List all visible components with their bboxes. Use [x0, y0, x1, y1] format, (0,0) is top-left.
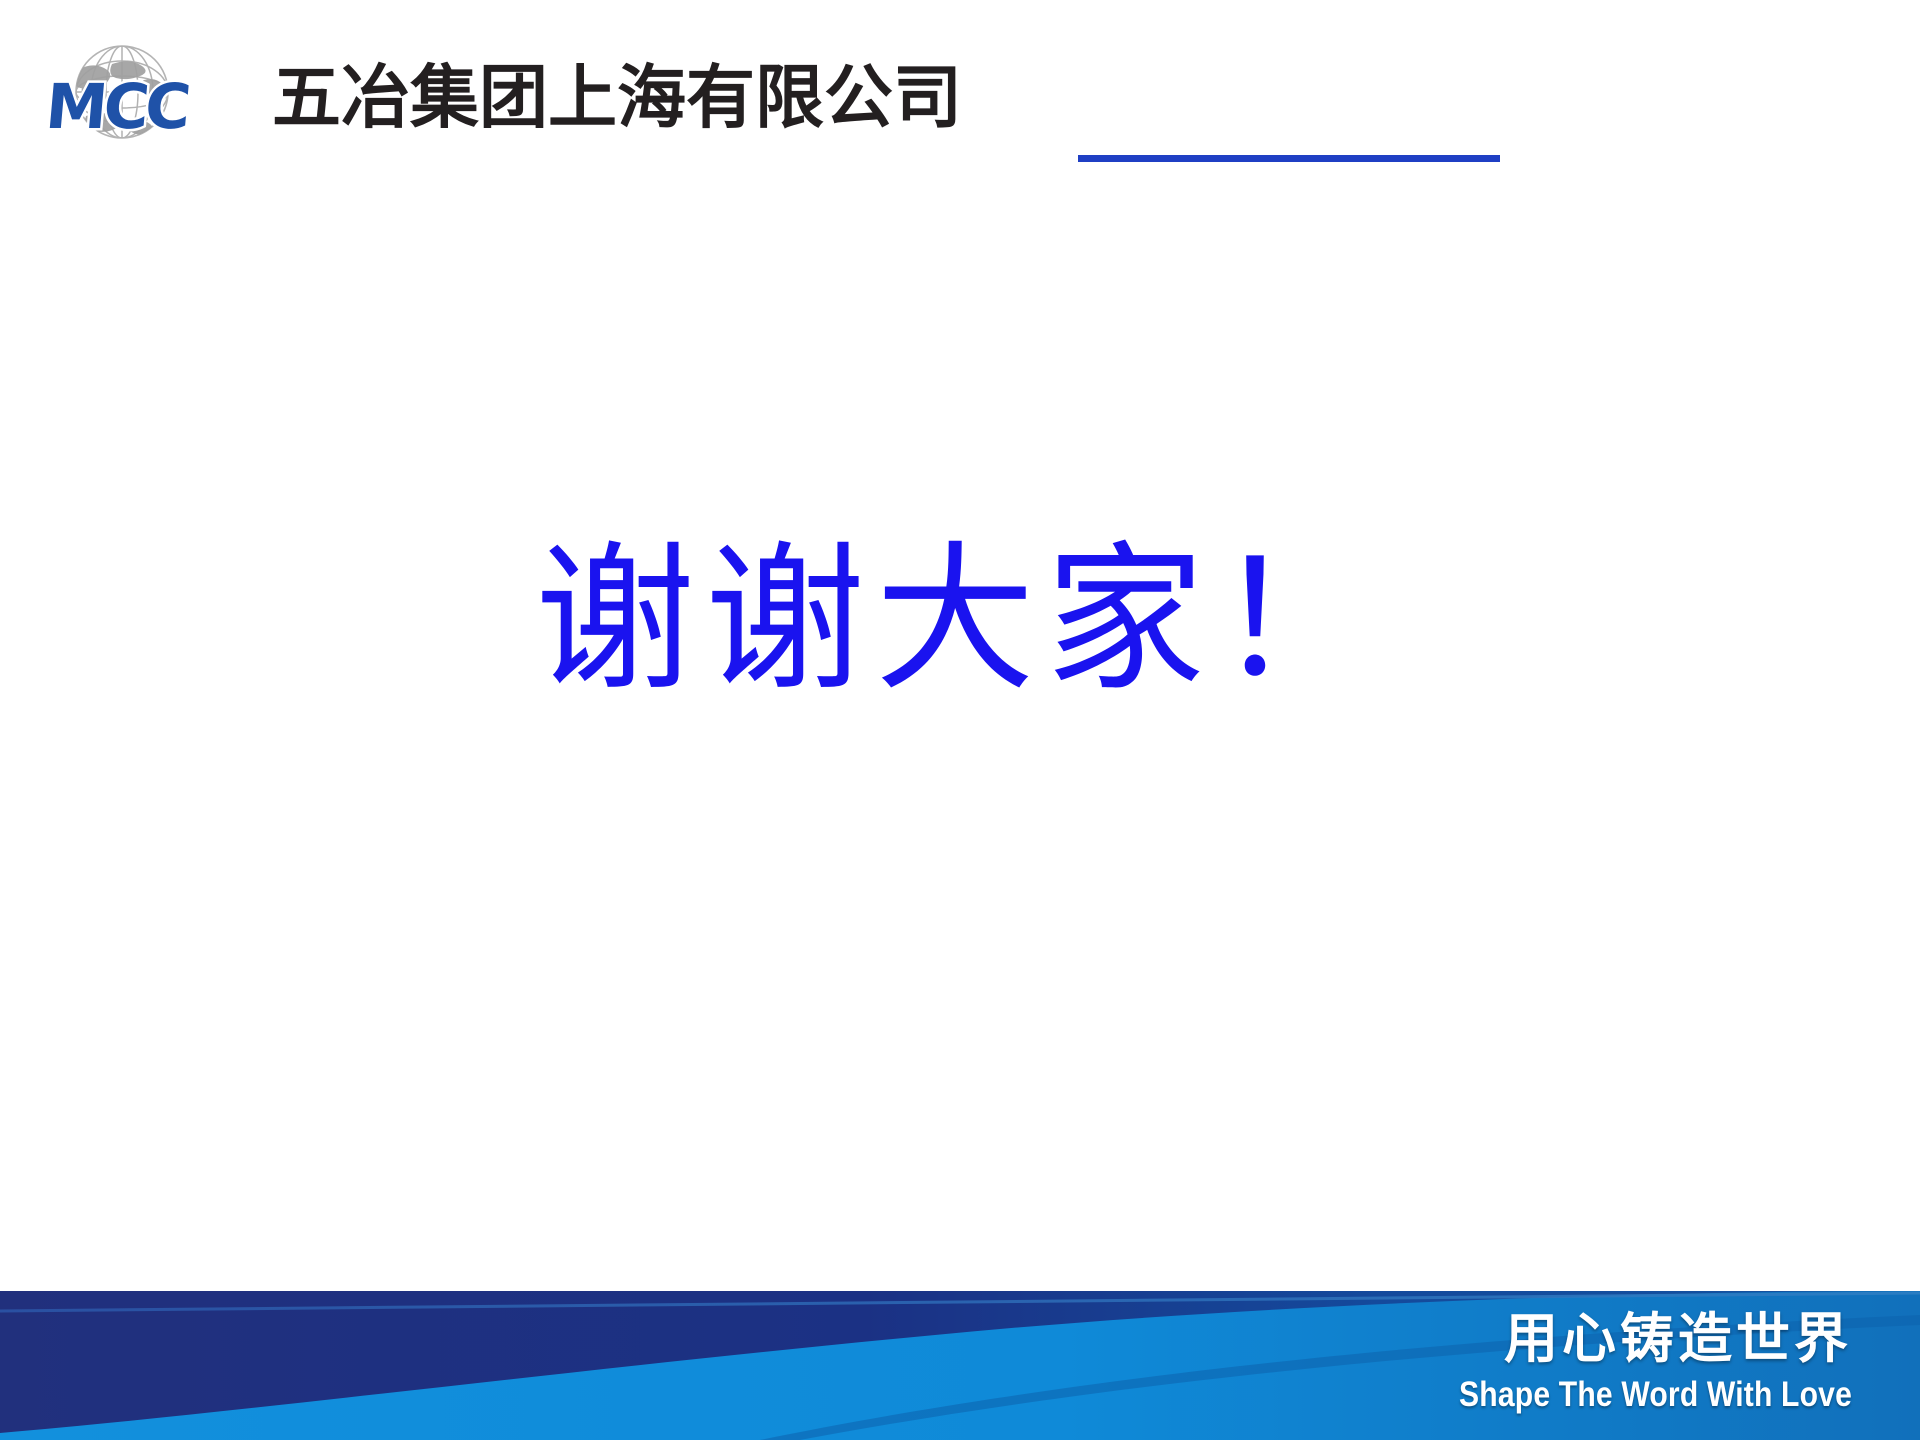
slogan-chinese: 用心铸造世界 [1292, 1308, 1852, 1370]
mcc-globe-logo: MCC [26, 42, 218, 147]
slide-canvas: MCC 五冶集团上海有限公司 谢谢大家！ [0, 0, 1920, 1440]
company-slogan: 用心铸造世界 Shape The Word With Love [1292, 1308, 1852, 1416]
slogan-english: Shape The Word With Love [1370, 1374, 1852, 1416]
company-name-title: 五冶集团上海有限公司 [272, 54, 962, 142]
mcc-wordmark: MCC [43, 70, 190, 143]
slide-header: MCC 五冶集团上海有限公司 [0, 0, 1920, 190]
slide-body: 谢谢大家！ [0, 190, 1920, 1290]
svg-text:MCC: MCC [43, 70, 190, 143]
thank-you-headline: 谢谢大家！ [0, 520, 1920, 720]
title-underline-rule [1078, 155, 1500, 162]
